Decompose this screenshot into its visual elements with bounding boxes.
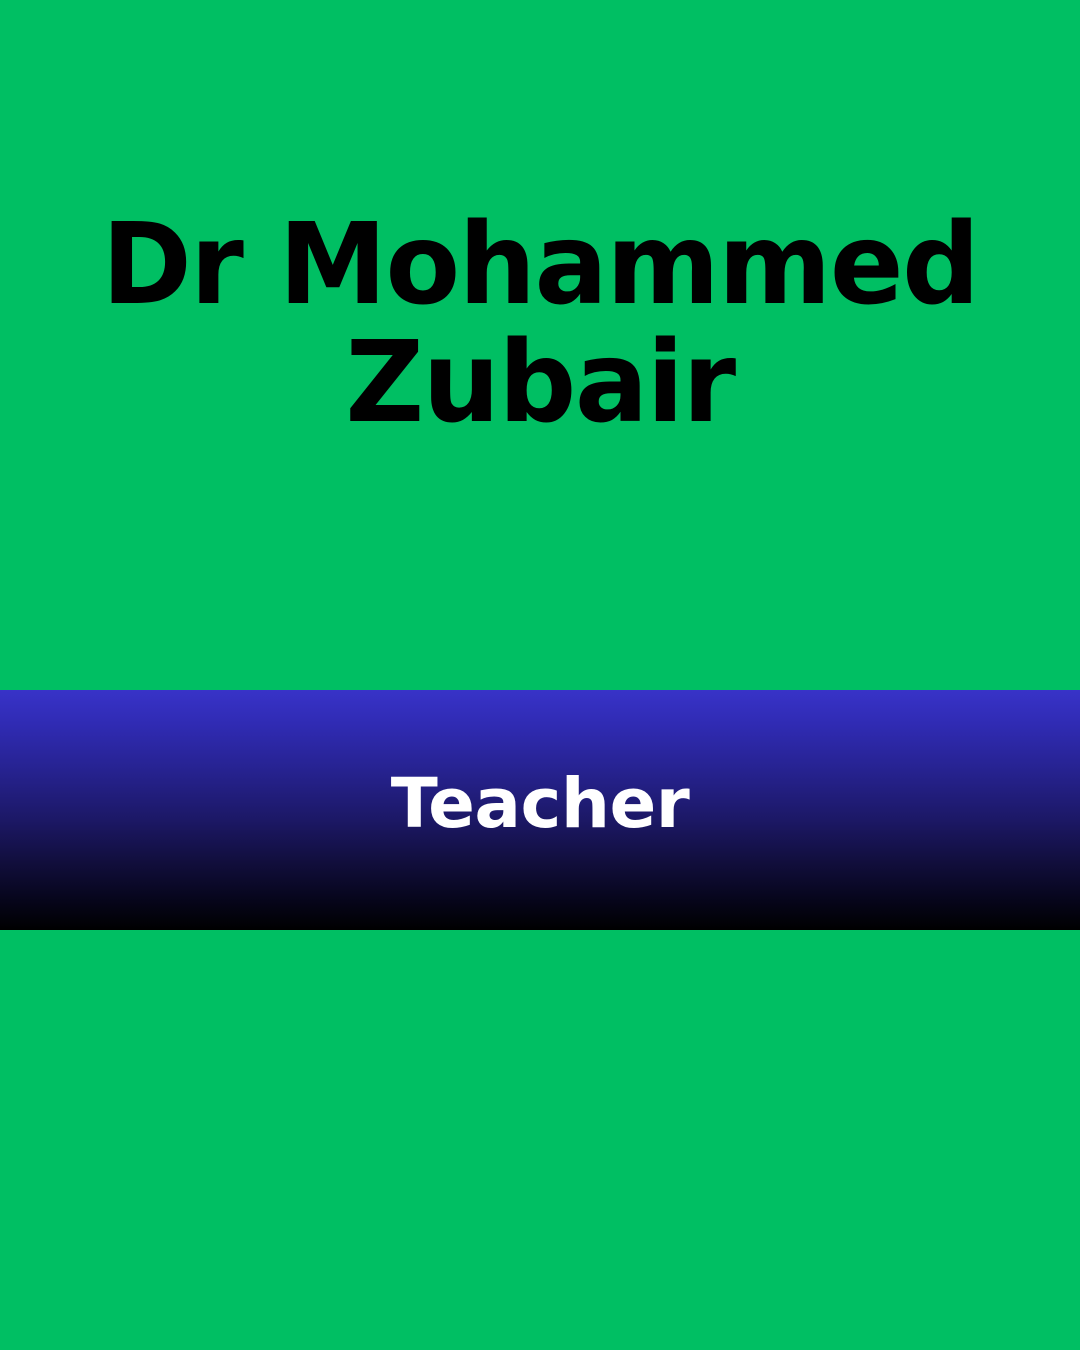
title-block: Dr Mohammed Zubair bbox=[0, 0, 1080, 690]
lower-green-field bbox=[0, 930, 1080, 1350]
role-label: Teacher bbox=[391, 770, 690, 839]
profile-card: Dr Mohammed Zubair Teacher bbox=[0, 0, 1080, 1350]
role-banner: Teacher bbox=[0, 690, 1080, 930]
page-title: Dr Mohammed Zubair bbox=[74, 206, 1005, 442]
